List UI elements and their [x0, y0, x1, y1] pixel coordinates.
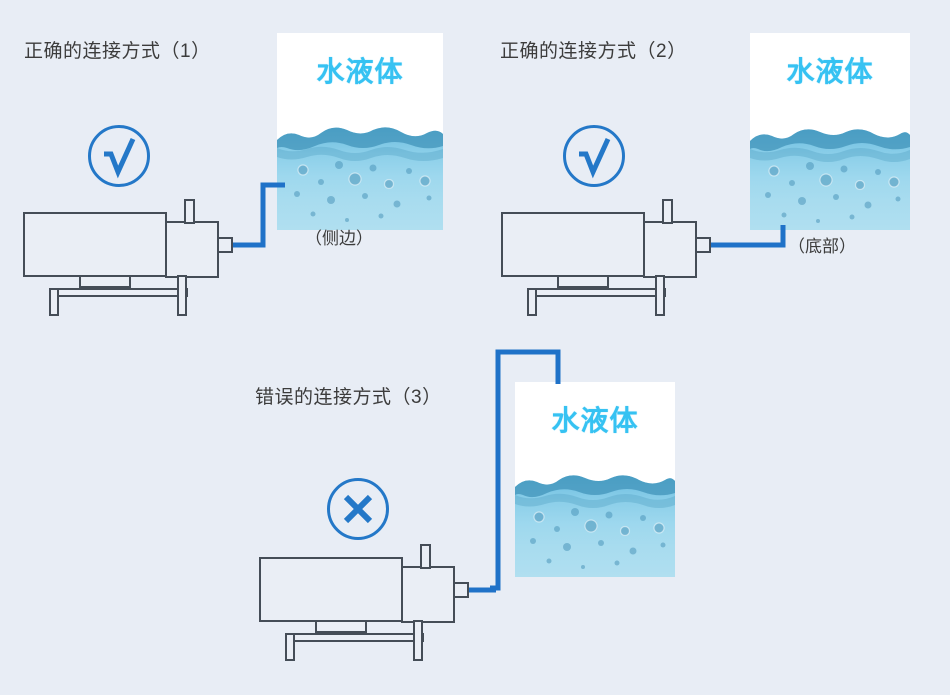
- pipe-top-connection-3: [490, 348, 620, 598]
- checkmark-icon-1: [88, 125, 150, 187]
- tank-label-1: 水液体: [277, 58, 443, 86]
- tank-label-2: 水液体: [750, 58, 910, 86]
- water-body-1: [277, 124, 443, 230]
- pump-assembly-3: [258, 545, 458, 660]
- pipe-bottom-connection-2: [693, 225, 813, 265]
- panel-3-title: 错误的连接方式（3）: [255, 388, 442, 407]
- pump-assembly-2: [500, 200, 700, 315]
- water-tank-1: 水液体: [277, 33, 443, 230]
- diagram-canvas: 正确的连接方式（1） 水液体: [0, 0, 950, 695]
- panel-1-caption: （侧边）: [305, 230, 373, 247]
- water-body-2: [750, 126, 910, 230]
- panel-1-title: 正确的连接方式（1）: [24, 42, 211, 61]
- pipe-outlet-stub-3: [468, 583, 502, 597]
- water-tank-2: 水液体: [750, 33, 910, 230]
- pump-assembly-1: [22, 200, 222, 315]
- checkmark-icon-2: [563, 125, 625, 187]
- cross-icon-3: [327, 478, 389, 540]
- panel-2-title: 正确的连接方式（2）: [500, 42, 687, 61]
